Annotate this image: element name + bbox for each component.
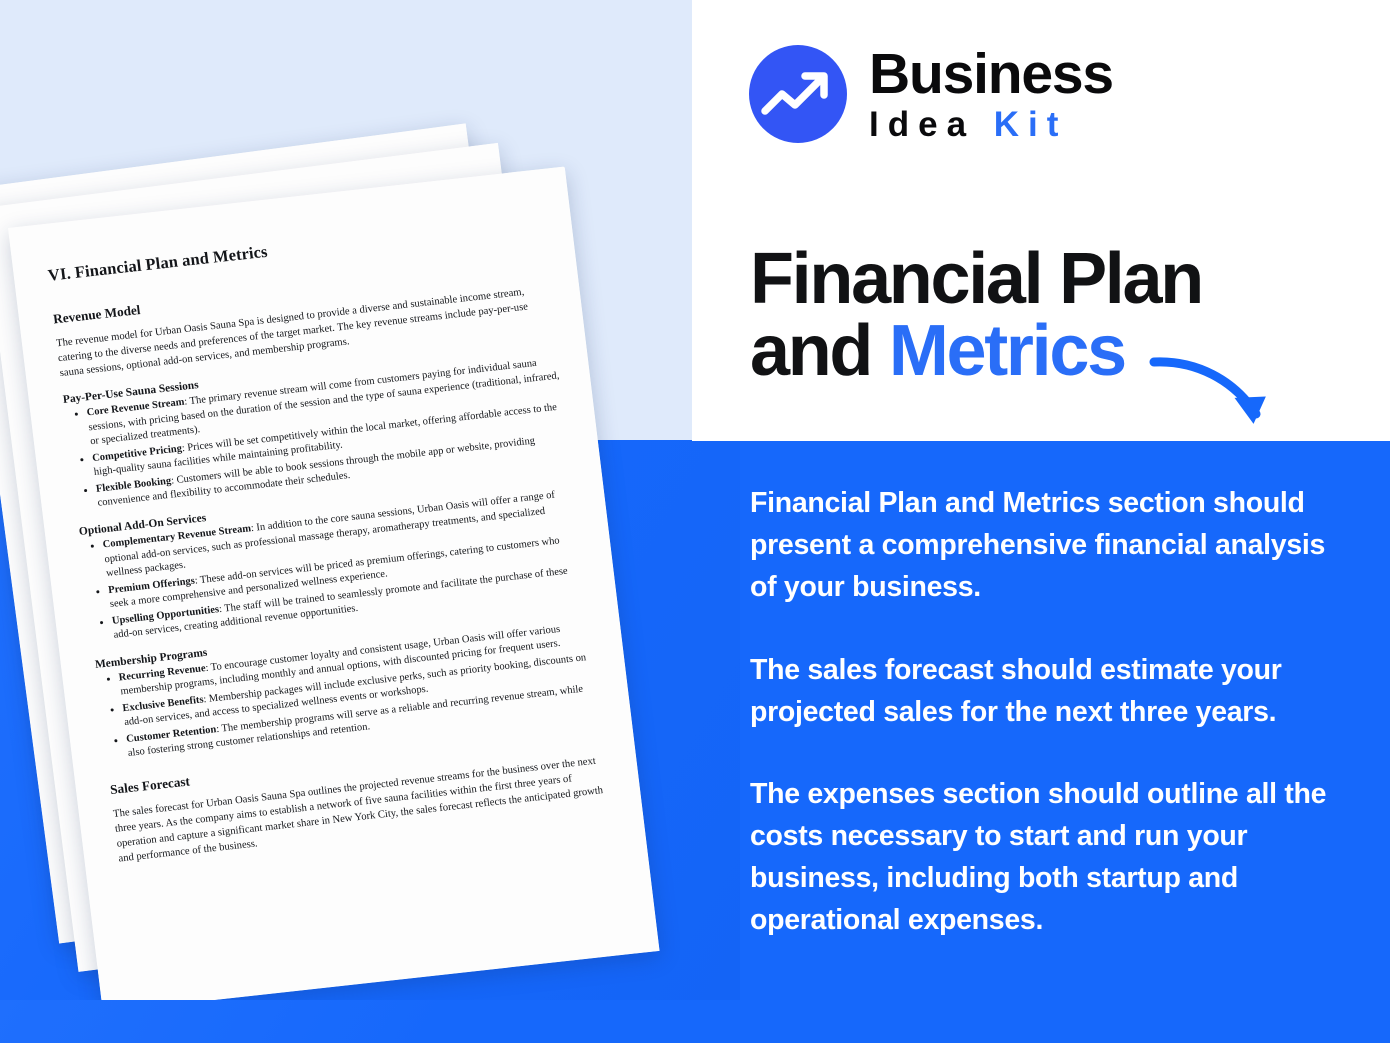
brand-wordmark: Business Idea Kit bbox=[869, 46, 1113, 142]
body-paragraph-1: Financial Plan and Metrics section shoul… bbox=[750, 482, 1350, 609]
page-title-line1: Financial Plan bbox=[750, 243, 1310, 315]
bottom-blue-overlay bbox=[0, 1000, 740, 1043]
brand-word-kit: Kit bbox=[994, 105, 1068, 144]
brand-logo[interactable]: Business Idea Kit bbox=[749, 45, 1113, 143]
body-paragraph-3: The expenses section should outline all … bbox=[750, 773, 1350, 942]
brand-name-business: Business bbox=[869, 46, 1113, 103]
brand-name-idea-kit: Idea Kit bbox=[869, 107, 1113, 142]
body-paragraph-2: The sales forecast should estimate your … bbox=[750, 649, 1350, 733]
slide-canvas: VI. Financial Plan and Metrics Revenue M… bbox=[0, 0, 1390, 1043]
document-page-stack: VI. Financial Plan and Metrics Revenue M… bbox=[0, 150, 760, 1043]
body-copy: Financial Plan and Metrics section shoul… bbox=[750, 482, 1350, 942]
document-page-front[interactable]: VI. Financial Plan and Metrics Revenue M… bbox=[8, 167, 660, 1013]
page-title-accent-word: Metrics bbox=[889, 311, 1125, 391]
trending-up-arrow-icon bbox=[749, 45, 847, 143]
page-title-line2-plain: and bbox=[750, 311, 889, 391]
document-content-front: VI. Financial Plan and Metrics Revenue M… bbox=[8, 167, 660, 1013]
curved-down-right-arrow-icon bbox=[1148, 352, 1308, 452]
brand-word-idea: Idea bbox=[869, 105, 975, 144]
